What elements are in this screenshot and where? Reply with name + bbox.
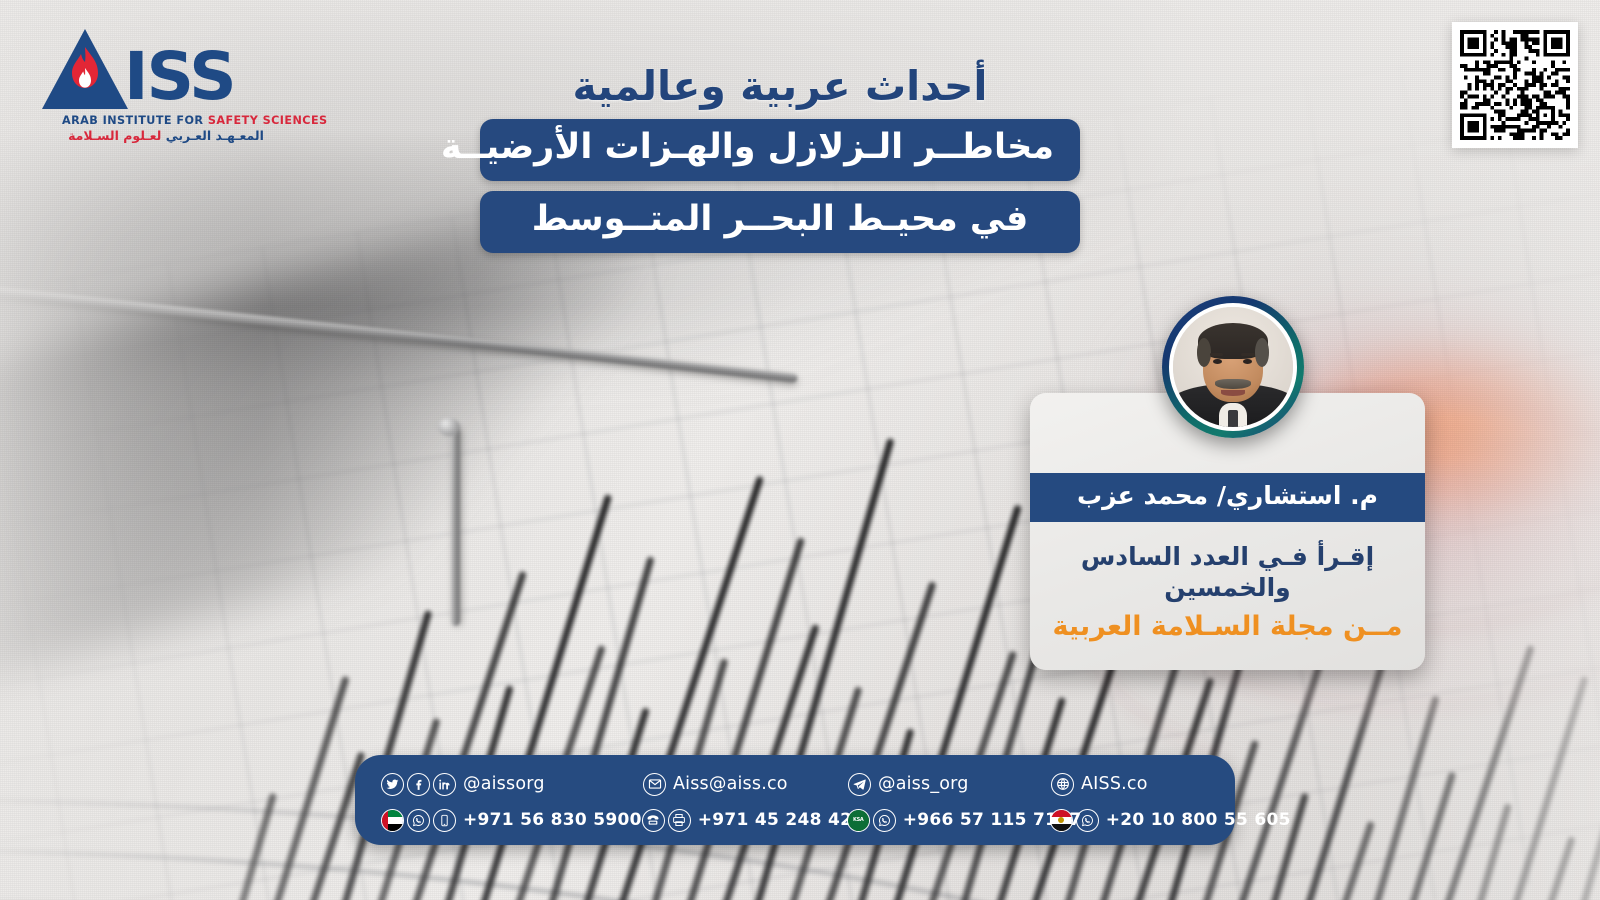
- telephone-icon[interactable]: [642, 809, 665, 832]
- twitter-icon[interactable]: [381, 773, 404, 796]
- contact-email[interactable]: Aiss@aiss.co: [643, 773, 848, 796]
- flag-uae-icon: [381, 809, 404, 832]
- logo-letters: ISS: [124, 46, 235, 111]
- telegram-icon[interactable]: [848, 773, 871, 796]
- logo-tagline-en-part1: ARAB INSTITUTE FOR: [62, 114, 208, 127]
- mobile-icon[interactable]: [433, 809, 456, 832]
- logo-tagline-en-part2: SAFETY SCIENCES: [208, 114, 328, 127]
- telegram-label: @aiss_org: [878, 774, 969, 794]
- logo-tagline-english: ARAB INSTITUTE FOR SAFETY SCIENCES: [40, 114, 270, 127]
- facebook-icon[interactable]: [407, 773, 430, 796]
- whatsapp-icon[interactable]: [407, 809, 430, 832]
- heading-kicker: أحداث عربية وعالمية: [480, 62, 1080, 110]
- contact-bar: @aissorg Aiss@aiss.co @aiss_org AISS.co: [355, 755, 1235, 845]
- magazine-name-line: مــن مجلة السـلامة العربية: [1050, 610, 1405, 644]
- fax-icon[interactable]: [668, 809, 691, 832]
- linkedin-icon[interactable]: [433, 773, 456, 796]
- contact-website[interactable]: AISS.co: [1051, 773, 1148, 796]
- contact-phone-egypt[interactable]: +20 10 800 55 605: [1050, 809, 1291, 832]
- flag-egypt-icon: [1050, 809, 1073, 832]
- speaker-card-body: إقـرأ فـي العدد السادس والخمسين مــن مجل…: [1030, 522, 1425, 670]
- globe-icon[interactable]: [1051, 773, 1074, 796]
- social-handle-label: @aissorg: [463, 774, 545, 794]
- speaker-avatar: [1162, 296, 1304, 438]
- email-label: Aiss@aiss.co: [673, 774, 788, 794]
- heading-bar-secondary: في محيـط البحــر المتــوسط: [480, 191, 1080, 253]
- poster-canvas: ISS ARAB INSTITUTE FOR SAFETY SCIENCES ا…: [0, 0, 1600, 900]
- contact-phone-ksa[interactable]: KSA +966 57 115 7157: [847, 809, 1050, 832]
- phone-uae-landline-label: +971 45 248 421: [698, 810, 865, 830]
- logo-tagline-ar-part1: المعـهـد العـربي: [161, 128, 264, 143]
- email-icon[interactable]: [643, 773, 666, 796]
- contact-phone-uae-landline[interactable]: +971 45 248 421: [642, 809, 847, 832]
- contact-social-handle[interactable]: @aissorg: [381, 773, 643, 796]
- qr-code-canvas: [1460, 30, 1570, 140]
- heading-bar-primary: مخاطــر الـزلازل والهـزات الأرضيــة: [480, 119, 1080, 181]
- phone-uae-mobile-label: +971 56 830 5900: [463, 810, 642, 830]
- contact-row-phones: +971 56 830 5900 +971 45 248 421 KSA +9: [381, 804, 1209, 836]
- contact-row-social: @aissorg Aiss@aiss.co @aiss_org AISS.co: [381, 768, 1209, 800]
- website-label: AISS.co: [1081, 774, 1148, 794]
- logo-tagline-ar-part2: لعـلوم السـلامة: [68, 128, 161, 143]
- avatar: [1169, 303, 1297, 431]
- whatsapp-icon[interactable]: [873, 809, 896, 832]
- flag-ksa-icon: KSA: [847, 809, 870, 832]
- heading-block: أحداث عربية وعالمية مخاطــر الـزلازل وال…: [480, 62, 1080, 253]
- whatsapp-icon[interactable]: [1076, 809, 1099, 832]
- logo-mark: ISS: [40, 27, 270, 111]
- qr-code-icon[interactable]: [1452, 22, 1578, 148]
- issue-read-line: إقـرأ فـي العدد السادس والخمسين: [1050, 541, 1405, 604]
- aiss-logo[interactable]: ISS ARAB INSTITUTE FOR SAFETY SCIENCES ا…: [40, 27, 270, 143]
- contact-telegram[interactable]: @aiss_org: [848, 773, 1051, 796]
- phone-egypt-label: +20 10 800 55 605: [1106, 810, 1291, 830]
- logo-tagline-arabic: المعـهـد العـربي لعـلوم السـلامة: [40, 128, 270, 143]
- contact-phone-uae-mobile[interactable]: +971 56 830 5900: [381, 809, 642, 832]
- flame-triangle-icon: [40, 27, 130, 111]
- speaker-name: م. استشاري/ محمد عزب: [1030, 473, 1425, 522]
